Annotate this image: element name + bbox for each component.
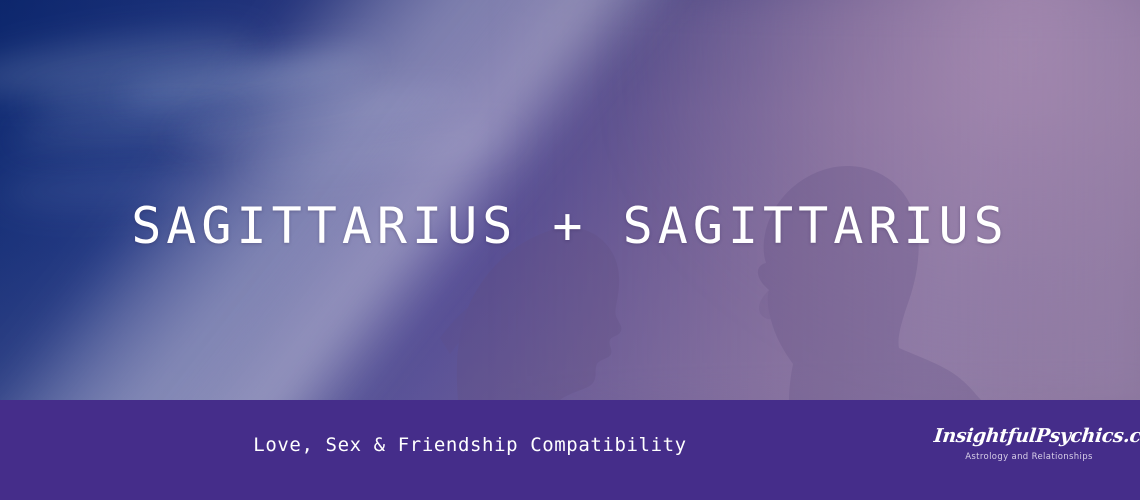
woman-silhouette-icon xyxy=(420,140,680,400)
site-logo[interactable]: InsightfulPsychics.com Astrology and Rel… xyxy=(934,424,1124,463)
logo-tagline: Astrology and Relationships xyxy=(934,451,1124,463)
page-title: SAGITTARIUS + SAGITTARIUS xyxy=(0,196,1140,256)
logo-wordmark: InsightfulPsychics.com xyxy=(933,424,1126,448)
footer-bar: Love, Sex & Friendship Compatibility Ins… xyxy=(0,400,1140,500)
man-silhouette-icon xyxy=(735,150,985,400)
hero-image: SAGITTARIUS + SAGITTARIUS xyxy=(0,0,1140,400)
compatibility-banner: SAGITTARIUS + SAGITTARIUS Love, Sex & Fr… xyxy=(0,0,1140,500)
